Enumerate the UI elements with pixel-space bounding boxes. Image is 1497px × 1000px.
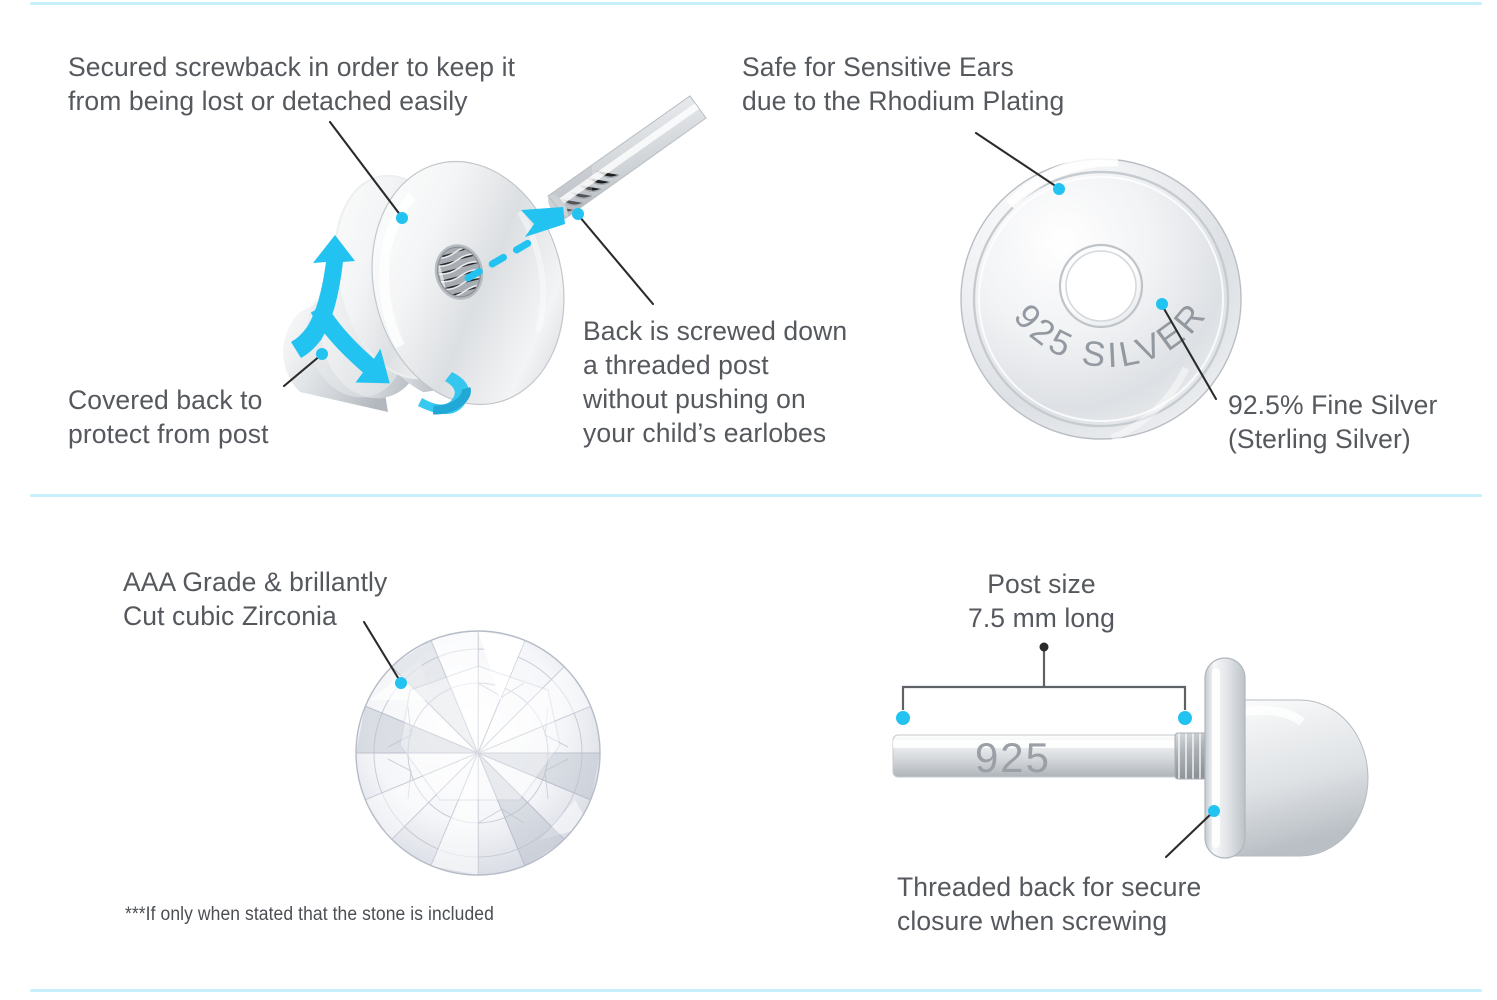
callout-dot-threaded-back xyxy=(1208,805,1220,817)
label-stone-footnote: ***If only when stated that the stone is… xyxy=(125,903,494,927)
callout-dot-covered xyxy=(316,348,328,360)
cubic-zirconia-art xyxy=(356,622,600,875)
label-fine-silver: 92.5% Fine Silver (Sterling Silver) xyxy=(1228,388,1437,456)
infographic-sheet: 925 SILVER xyxy=(0,0,1497,1000)
callout-dot-sterling xyxy=(1156,298,1168,310)
label-back-screwed-down: Back is screwed down a threaded post wit… xyxy=(583,314,847,450)
callout-dot-screwback xyxy=(396,212,408,224)
silver-disc-art: 925 SILVER xyxy=(961,133,1241,439)
threaded-post-diagonal xyxy=(544,96,706,240)
dimension-dot-right xyxy=(1178,711,1192,725)
callout-dot-rhodium xyxy=(1053,183,1065,195)
callout-dot-zirconia xyxy=(395,677,407,689)
post-stamp-text: 925 xyxy=(975,734,1051,781)
label-secured-screwback: Secured screwback in order to keep it fr… xyxy=(68,50,515,118)
dimension-bracket xyxy=(903,648,1185,710)
dimension-top-dot xyxy=(1040,643,1049,652)
label-post-size: Post size 7.5 mm long xyxy=(968,567,1115,635)
dimension-dot-left xyxy=(896,711,910,725)
label-safe-sensitive-ears: Safe for Sensitive Ears due to the Rhodi… xyxy=(742,50,1064,118)
label-covered-back: Covered back to protect from post xyxy=(68,383,269,451)
infographic-artwork: 925 SILVER xyxy=(0,0,1497,1000)
callout-dot-post xyxy=(572,208,584,220)
label-aaa-grade-zirconia: AAA Grade & brillantly Cut cubic Zirconi… xyxy=(123,565,387,633)
label-threaded-back: Threaded back for secure closure when sc… xyxy=(897,870,1201,938)
post-diagram-art: 925 xyxy=(893,643,1368,859)
